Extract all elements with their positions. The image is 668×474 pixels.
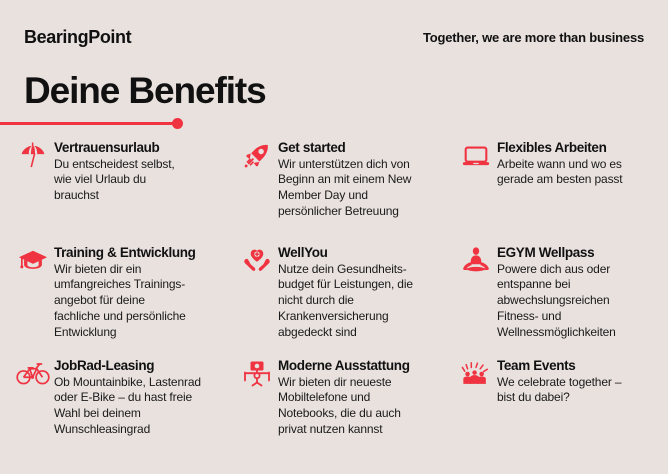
title-underline [0,118,190,130]
benefit-item: Training & Entwicklung Wir bieten dir ei… [14,245,238,358]
benefit-heading: Moderne Ausstattung [278,358,410,374]
workstation-icon [238,358,276,390]
benefit-item: Get started Wir unterstützen dich von Be… [238,140,457,245]
meditation-icon [457,245,495,277]
benefit-heading: Vertrauensurlaub [54,140,175,156]
benefit-heading: Training & Entwicklung [54,245,196,261]
benefit-body: Arbeite wann und wo es gerade am besten … [497,157,622,189]
underline-dot [172,118,183,129]
celebration-people-icon [457,358,495,390]
bicycle-icon [14,358,52,390]
beach-umbrella-icon [14,140,52,172]
benefit-item: JobRad-Leasing Ob Mountainbike, Lastenra… [14,358,238,470]
benefit-heading: EGYM Wellpass [497,245,616,261]
benefit-heading: Get started [278,140,411,156]
benefit-item: EGYM Wellpass Powere dich aus oder entsp… [457,245,660,358]
benefit-body: Ob Mountainbike, Lastenrad oder E-Bike –… [54,375,201,438]
heart-in-hands-icon [238,245,276,277]
graduation-cap-icon [14,245,52,277]
benefit-body: Wir bieten dir neueste Mobiltelefone und… [278,375,410,438]
benefit-body: Powere dich aus oder entspanne bei abwec… [497,262,616,341]
benefit-heading: Flexibles Arbeiten [497,140,622,156]
benefit-item: Moderne Ausstattung Wir bieten dir neues… [238,358,457,470]
benefit-heading: WellYou [278,245,413,261]
benefit-body: We celebrate together – bist du dabei? [497,375,621,407]
rocket-icon [238,140,276,172]
benefits-poster: BearingPoint Together, we are more than … [0,0,668,474]
company-logo: BearingPoint [24,27,131,48]
benefit-heading: Team Events [497,358,621,374]
benefit-body: Du entscheidest selbst, wie viel Urlaub … [54,157,175,204]
underline-bar [0,122,180,125]
benefit-body: Nutze dein Gesundheits- budget für Leist… [278,262,413,341]
laptop-icon [457,140,495,172]
benefit-body: Wir unterstützen dich von Beginn an mit … [278,157,411,220]
benefit-item: Vertrauensurlaub Du entscheidest selbst,… [14,140,238,245]
benefit-item: WellYou Nutze dein Gesundheits- budget f… [238,245,457,358]
benefit-body: Wir bieten dir ein umfangreiches Trainin… [54,262,196,341]
benefit-item: Flexibles Arbeiten Arbeite wann und wo e… [457,140,660,245]
page-title: Deine Benefits [24,72,266,109]
benefit-item: Team Events We celebrate together – bist… [457,358,660,470]
benefit-heading: JobRad-Leasing [54,358,201,374]
benefits-grid: Vertrauensurlaub Du entscheidest selbst,… [14,140,660,470]
company-tagline: Together, we are more than business [423,30,644,45]
